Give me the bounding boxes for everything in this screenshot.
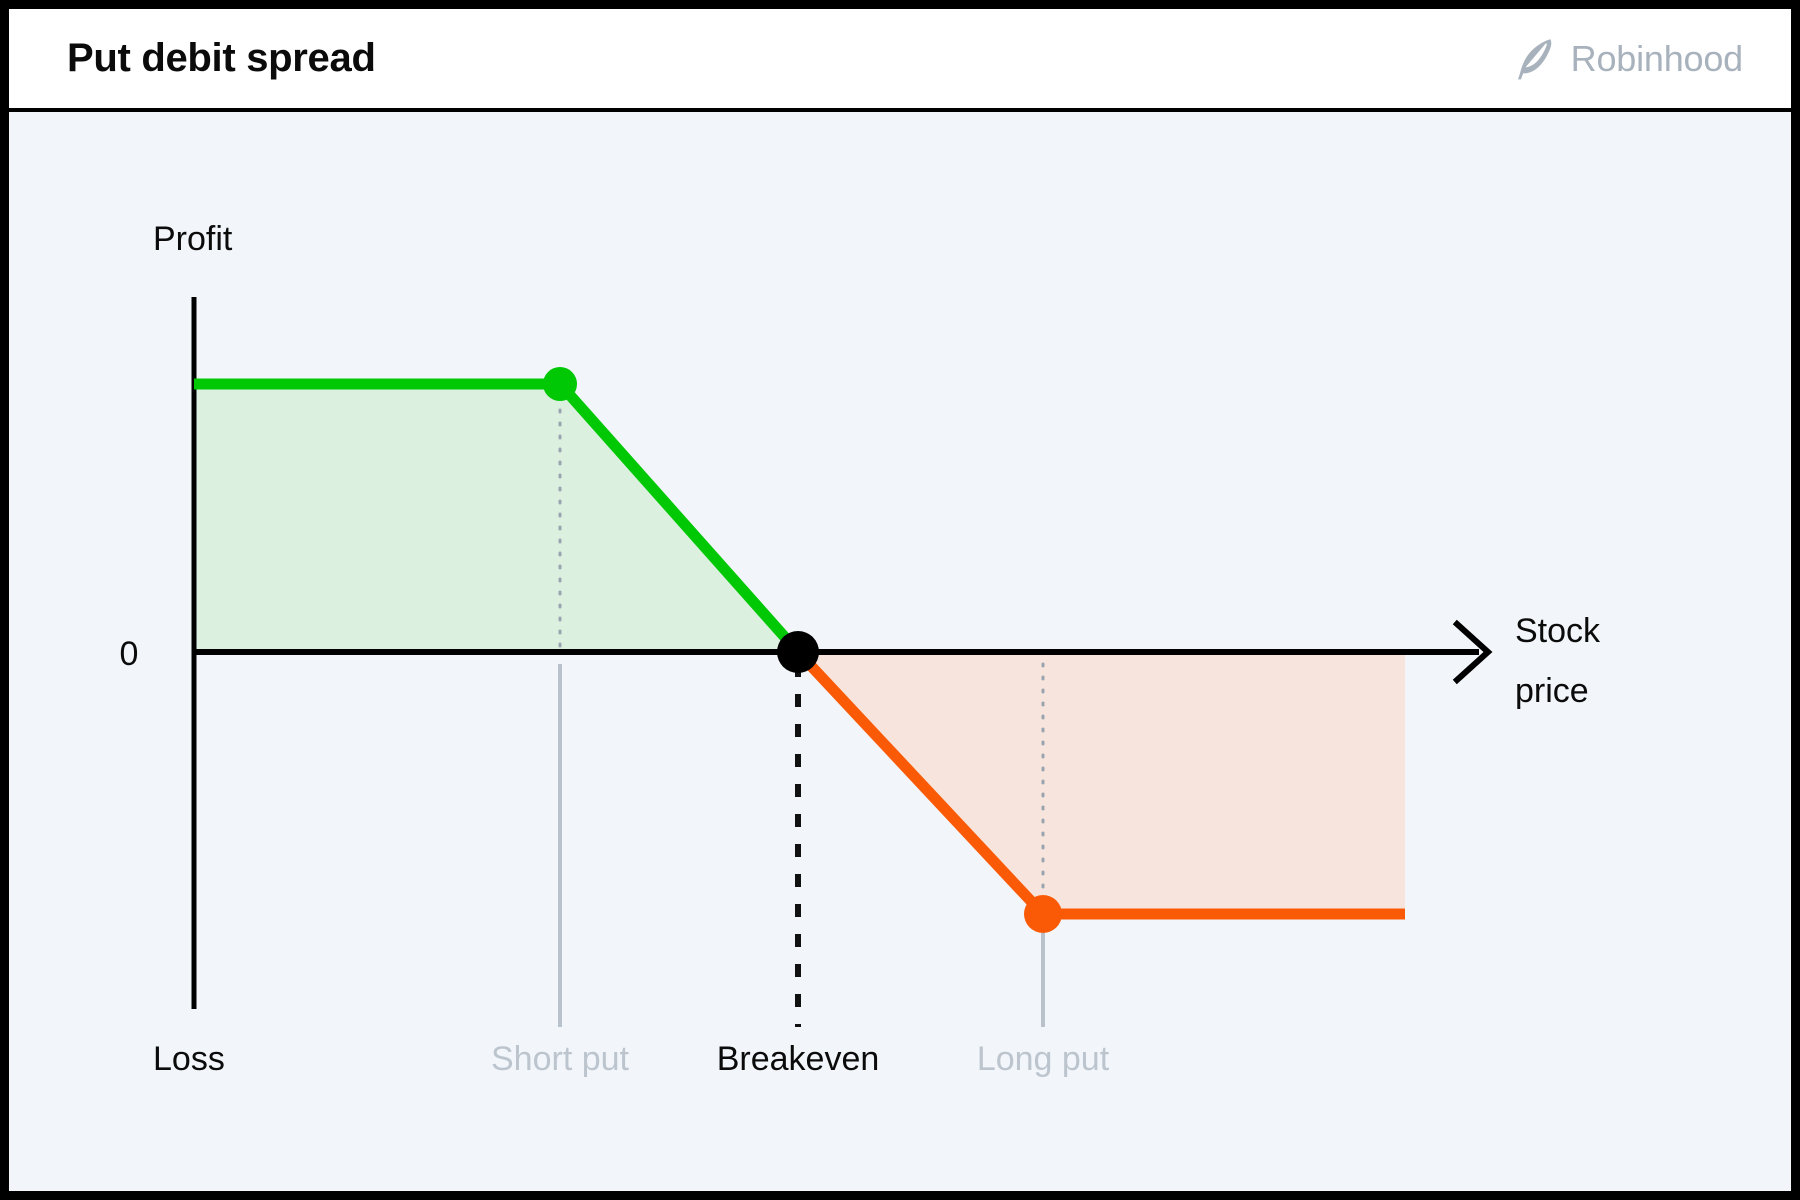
- y-axis-label-zero: 0: [120, 635, 139, 673]
- x-axis-label-line2: price: [1515, 672, 1589, 710]
- breakeven-marker: [777, 631, 819, 673]
- payoff-chart: Profit 0 Loss Stock price Short put Brea…: [9, 112, 1791, 1191]
- brand-name: Robinhood: [1571, 38, 1743, 80]
- long-put-marker: [1024, 895, 1062, 933]
- brand-logo: Robinhood: [1515, 37, 1743, 81]
- long-put-label: Long put: [977, 1040, 1110, 1078]
- card-header: Put debit spread Robinhood: [9, 9, 1791, 112]
- payoff-chart-svg: Profit 0 Loss Stock price Short put Brea…: [9, 112, 1791, 1191]
- page-title: Put debit spread: [67, 36, 376, 81]
- feather-icon: [1515, 37, 1555, 81]
- loss-fill-region: [798, 652, 1405, 914]
- profit-fill-region: [194, 384, 798, 652]
- short-put-label: Short put: [491, 1040, 630, 1078]
- y-axis-label-loss: Loss: [153, 1040, 225, 1078]
- breakeven-label: Breakeven: [717, 1040, 880, 1078]
- x-axis-label-line1: Stock: [1515, 612, 1601, 650]
- short-put-marker: [543, 367, 577, 401]
- y-axis-label-profit: Profit: [153, 220, 233, 258]
- chart-card: Put debit spread Robinhood: [0, 0, 1800, 1200]
